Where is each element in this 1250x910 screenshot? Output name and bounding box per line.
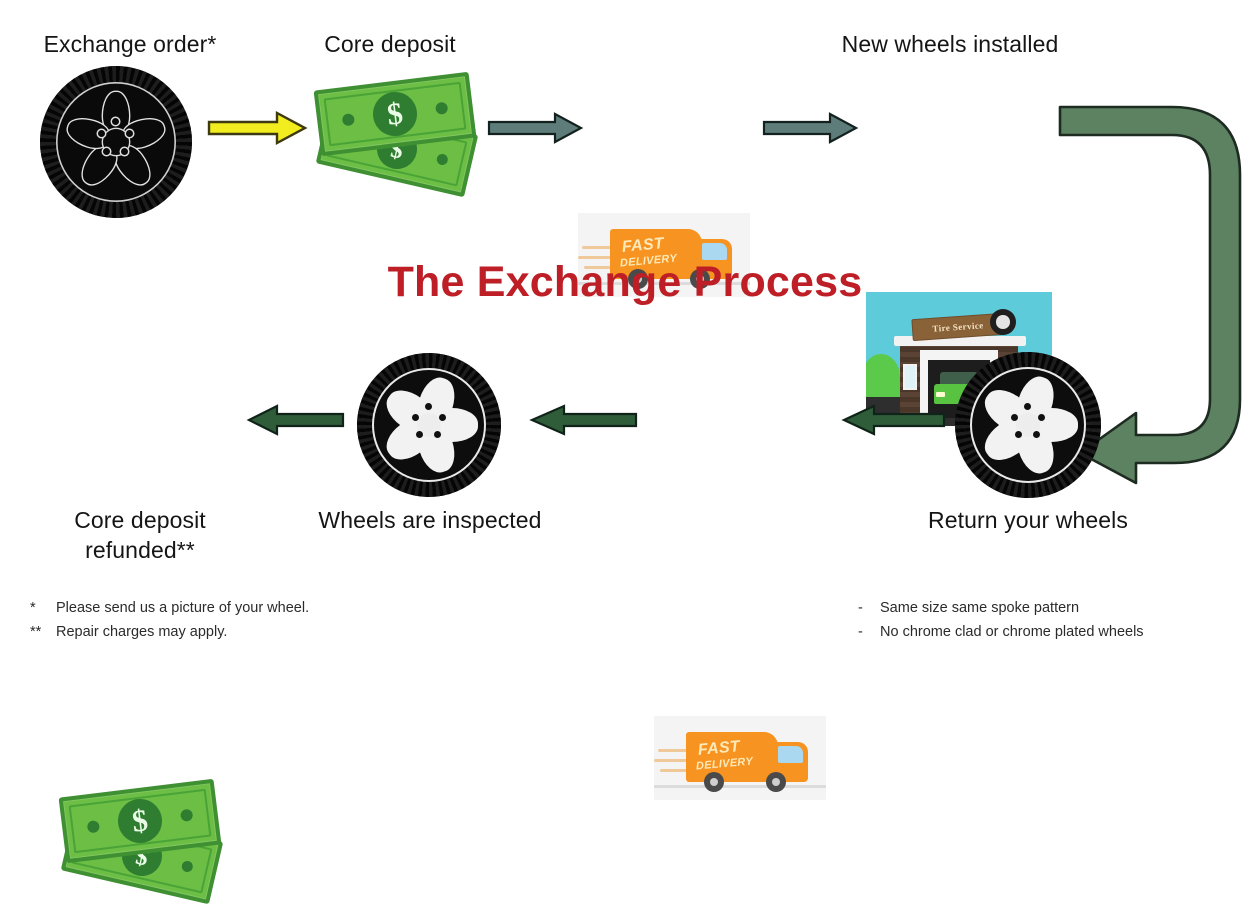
footnote-item: * Please send us a picture of your wheel… bbox=[30, 596, 450, 620]
arrow-order-to-deposit bbox=[207, 110, 307, 146]
label-new-wheels-installed: New wheels installed bbox=[805, 29, 1095, 59]
footnote-text: Please send us a picture of your wheel. bbox=[56, 596, 309, 620]
page-title: The Exchange Process bbox=[0, 257, 1250, 307]
arrow-return-to-shipping-back bbox=[840, 404, 946, 436]
footnotes-right: - Same size same spoke pattern - No chro… bbox=[858, 596, 1248, 644]
footnote-marker: - bbox=[858, 596, 880, 620]
footnote-marker: * bbox=[30, 596, 56, 620]
icon-money-refund: $ $ bbox=[58, 780, 228, 910]
footnotes-left: * Please send us a picture of your wheel… bbox=[30, 596, 450, 644]
label-core-deposit-refunded-line1: Core deposit bbox=[20, 505, 260, 535]
icon-wheel-inspected bbox=[357, 353, 501, 497]
footnote-text: No chrome clad or chrome plated wheels bbox=[880, 620, 1144, 644]
footnote-text: Same size same spoke pattern bbox=[880, 596, 1079, 620]
footnote-item: - Same size same spoke pattern bbox=[858, 596, 1248, 620]
arrow-shipping-back-to-inspection bbox=[528, 404, 638, 436]
icon-money-core-deposit: $ $ bbox=[313, 75, 483, 205]
footnote-item: ** Repair charges may apply. bbox=[30, 620, 450, 644]
icon-wheel-exchange-order bbox=[40, 66, 192, 218]
icon-wheel-return bbox=[955, 352, 1101, 498]
footnote-item: - No chrome clad or chrome plated wheels bbox=[858, 620, 1248, 644]
shop-sign-text: Tire Service bbox=[932, 320, 984, 334]
footnote-marker: ** bbox=[30, 620, 56, 644]
diagram-canvas: Exchange order* Core deposit New wheels … bbox=[0, 0, 1250, 666]
label-core-deposit-refunded-line2: refunded** bbox=[20, 535, 260, 565]
label-return-your-wheels: Return your wheels bbox=[900, 505, 1156, 535]
label-exchange-order: Exchange order* bbox=[10, 29, 250, 59]
footnote-text: Repair charges may apply. bbox=[56, 620, 227, 644]
label-core-deposit: Core deposit bbox=[290, 29, 490, 59]
label-wheels-inspected: Wheels are inspected bbox=[300, 505, 560, 535]
icon-delivery-truck-return: FAST DELIVERY bbox=[654, 716, 826, 800]
arrow-inspection-to-refund bbox=[245, 404, 345, 436]
footnote-marker: - bbox=[858, 620, 880, 644]
arrow-deposit-to-shipping bbox=[487, 112, 583, 144]
arrow-shipping-to-install bbox=[762, 112, 858, 144]
